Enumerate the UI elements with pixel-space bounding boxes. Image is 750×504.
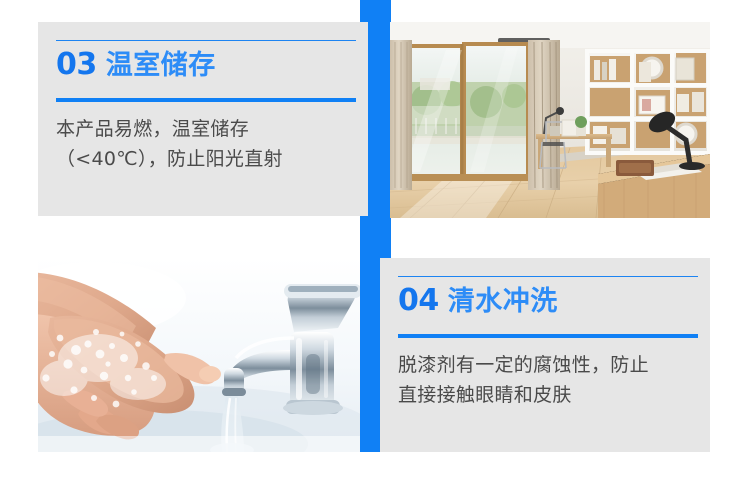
body-line: （<40℃），防止阳光直射 xyxy=(56,144,354,174)
section-card-04: 04清水冲洗 脱漆剂有一定的腐蚀性，防止 直接接触眼睛和皮肤 xyxy=(380,258,710,452)
card-top-rule xyxy=(398,276,698,277)
promo-banner: 03温室储存 本产品易燃，温室储存 （<40℃），防止阳光直射 明亮室内房间，落… xyxy=(0,0,750,504)
body-line: 本产品易燃，温室储存 xyxy=(56,114,354,144)
section-title: 清水冲洗 xyxy=(448,286,558,317)
section-title: 温室储存 xyxy=(106,50,216,81)
section-number: 03 xyxy=(56,47,97,82)
card-top-rule xyxy=(56,40,356,41)
section-number: 04 xyxy=(398,283,439,318)
section-body-03: 本产品易燃，温室储存 （<40℃），防止阳光直射 xyxy=(56,114,354,174)
section-heading-04: 04清水冲洗 xyxy=(398,286,558,316)
section-body-04: 脱漆剂有一定的腐蚀性，防止 直接接触眼睛和皮肤 xyxy=(398,350,696,410)
room-interior-photo: 明亮室内房间，落地玻璃推拉门、窗帘、书架与书桌 xyxy=(390,22,710,218)
card-heading-rule xyxy=(398,334,698,338)
body-line: 脱漆剂有一定的腐蚀性，防止 xyxy=(398,350,696,380)
section-card-03: 03温室储存 本产品易燃，温室储存 （<40℃），防止阳光直射 xyxy=(38,22,368,216)
card-heading-rule xyxy=(56,98,356,102)
body-line: 直接接触眼睛和皮肤 xyxy=(398,380,696,410)
handwashing-photo: 双手在铬制水龙头流水下涂抹肥皂清洗 xyxy=(38,258,360,452)
section-heading-03: 03温室储存 xyxy=(56,50,216,80)
